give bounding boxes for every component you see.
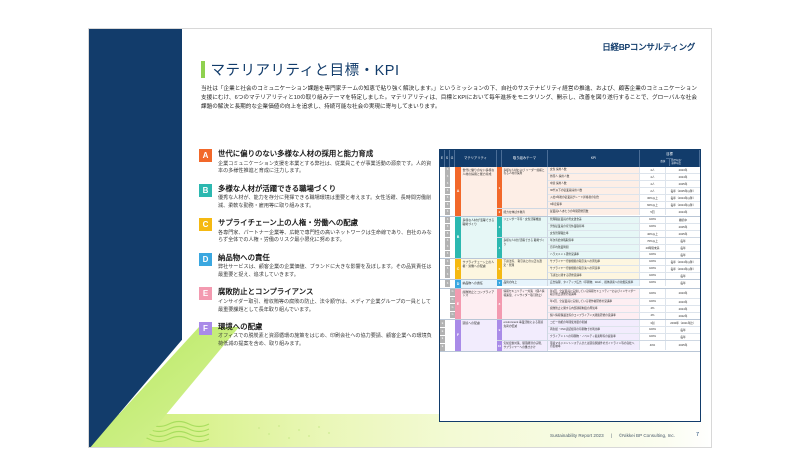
kpi-row: 個人情報保護法等のコンプライアンス関連研修の受講率4%2022年 — [548, 313, 700, 319]
esg-columns: GGGG — [440, 289, 455, 319]
kpi-theme-row: 8情報セキュリティー対策 （個人情報漏洩、インサイダー取引防止）年1回、全従業員… — [497, 289, 700, 319]
theme-name: 能力を伸ばす教育 — [502, 209, 548, 216]
materiality-body: 多様な人材が活躍できる職場づくり優秀な人材が、能力を存分に発揮できる職場環境は重… — [218, 184, 434, 211]
kpi-rows: コピー用紙の年間使用量の削減3割2030年（2021年比）再生紙・FSC認証紙等… — [548, 320, 700, 340]
kpi-row: 30代以下の従業員採用人数2人毎年（2025年以降） — [548, 188, 700, 195]
esg-mark: E — [440, 328, 444, 335]
kpi-target-year: 2024年 — [666, 174, 700, 180]
group-name: 世代に偏りのない多様な人材の採用と能力育成 — [461, 167, 497, 216]
materiality-badge-b: B — [199, 184, 212, 197]
materiality-description: 企業コミュニケーション支援を本業とする弊社は、従業員こそが事業活動の源泉です。人… — [218, 161, 434, 176]
kpi-text: 年1回、全従業員に実施している情報セキュリティーおよびインサイダー取引防止研修の… — [548, 289, 640, 298]
kpi-target-value: 100% — [640, 259, 666, 265]
group-name: 環境への配慮 — [461, 320, 497, 351]
kpi-target-value: 100% — [640, 266, 666, 272]
theme-name: 多様な人材が活躍できる 職場づくり — [502, 238, 548, 258]
kpi-row: サプライヤー行動規範の取引先への同意率100%毎年（2024年以降） — [548, 266, 700, 273]
kpi-target-year: 2024年 — [666, 306, 700, 312]
kpi-text: 個人情報保護法等のコンプライアンス関連研修の受講率 — [548, 313, 640, 319]
materiality-body: 世代に偏りのない多様な人材の採用と能力育成企業コミュニケーション支援を本業とする… — [218, 149, 434, 176]
esg-mark: S — [445, 181, 449, 187]
kpi-group-themes: 8情報セキュリティー対策 （個人情報漏洩、インサイダー取引防止）年1回、全従業員… — [497, 289, 700, 319]
materiality-description: 弊社サービスは、顧客企業の企業価値、ブランドに大きな影響を及ぼします。その品質責… — [218, 264, 434, 279]
kpi-rows: 年1回、全従業員に実施している情報セキュリティーおよびインサイダー取引防止研修の… — [548, 289, 700, 319]
kpi-theme-row: 5下請法等、 取引先との公正な選定・管理サプライヤー行動規範の取引先への周知率1… — [497, 259, 700, 279]
kpi-table: E S G マテリアリティ 取り組みテーマ KPI 目標 数値 目標年度/基準年… — [439, 149, 701, 422]
kpi-theme-row: 1多様な人材および リーダー候補となる人材の採用女性 採用人数4人2023年外国… — [497, 167, 700, 209]
materiality-item-a: A世代に偏りのない多様な人材の採用と能力育成企業コミュニケーション支援を本業とす… — [199, 149, 434, 176]
kpi-target-value: 2人 — [640, 188, 666, 194]
materiality-heading: 腐敗防止とコンプライアンス — [218, 287, 434, 296]
kpi-text: サプライヤー行動規範の取引先への同意率 — [548, 266, 640, 272]
theme-name: 気候変動対策、循環経済の実現、 サプライヤーへの働きかけ — [502, 341, 548, 351]
group-name: サプライチェーン上の人権・労働への配慮 — [461, 259, 497, 279]
header-materiality: マテリアリティ — [455, 150, 497, 167]
kpi-target-value: 30%以上 — [640, 195, 666, 201]
esg-mark: S — [445, 202, 449, 208]
kpi-text: 女性 採用人数 — [548, 167, 640, 173]
kpi-rows: 従業員1人あたりの年間研修回数5回2024年 — [548, 209, 700, 216]
materiality-heading: 世代に偏りのない多様な人材の採用と能力育成 — [218, 149, 434, 158]
esg-mark: S — [445, 209, 449, 215]
title-accent-bar — [201, 61, 205, 78]
kpi-target-value: 100% — [640, 217, 666, 223]
kpi-target-value: 100% — [640, 252, 666, 258]
kpi-row: 従業員1人あたりの年間研修回数5回2024年 — [548, 209, 700, 215]
esg-columns: SSSSSS — [440, 217, 455, 258]
kpi-target-value: 40% — [640, 341, 666, 350]
kpi-row: クライアントへの印刷物・ノベルティ提案時等の提案率100%毎年 — [548, 334, 700, 340]
materiality-heading: 環境への配慮 — [218, 322, 434, 331]
kpi-group-a: SSSSSSSA世代に偏りのない多様な人材の採用と能力育成1多様な人材および リ… — [440, 167, 700, 217]
group-name: 納品物への責任 — [461, 280, 497, 288]
footer-report-name: Sustainability Report 2023 — [550, 433, 604, 438]
kpi-target-value: 100% — [640, 327, 666, 333]
kpi-text: クライアントへの印刷物・ノベルティ提案時等の提案率 — [548, 334, 640, 340]
kpi-target-year: 毎年 — [666, 245, 700, 251]
kpi-table-body: SSSSSSSA世代に偏りのない多様な人材の採用と能力育成1多様な人材および リ… — [440, 167, 700, 421]
esg-mark: S — [445, 266, 449, 272]
kpi-theme-row: 10気候変動対策、循環経済の実現、 サプライヤーへの働きかけ環境マネジメントシス… — [497, 341, 700, 351]
esg-mark: S — [445, 259, 449, 265]
slide-footer: Sustainability Report 2023 | ©Nikkei BP … — [550, 432, 699, 438]
kpi-target-year: 2023年 — [666, 289, 700, 298]
materiality-item-e: E腐敗防止とコンプライアンスインサイダー取引、贈収賄等の腐敗の防止、法令順守は、… — [199, 287, 434, 314]
theme-name: 情報セキュリティー対策 （個人情報漏洩、インサイダー取引防止） — [502, 289, 548, 319]
kpi-rows: 広告倫理、タイアップ広告（印刷物、Web）、媒体調査への校閲実施率100%毎年 — [548, 280, 700, 287]
kpi-text: 腐敗防止に関する内部通報制度の周知率 — [548, 306, 640, 312]
kpi-row: 月平均残業時間20時間未満毎年 — [548, 245, 700, 252]
kpi-group-themes: 3ジェンダー平等・女性活躍推進管理職従業員の男女賃金差100%継続中男性従業員の… — [497, 217, 700, 258]
esg-mark: G — [450, 304, 454, 311]
kpi-target-value: 100% — [640, 280, 666, 286]
kpi-group-themes: 9environment 事業活動による環境負荷の低減コピー用紙の年間使用量の削… — [497, 320, 700, 351]
kpi-target-year: 継続中 — [666, 217, 700, 223]
kpi-text: サプライヤー行動規範の取引先への周知率 — [548, 259, 640, 265]
materiality-description: インサイダー取引、贈収賄等の腐敗の防止、法令順守は、メディア企業グループの一員と… — [218, 299, 434, 314]
materiality-badge-f: F — [199, 322, 212, 335]
materiality-description: 各専門家、パートナー企業等、広範で専門性の高いネットワークは生命線であり、自社の… — [218, 230, 434, 245]
kpi-target-value: 100% — [640, 334, 666, 340]
kpi-text: 女性管理職比率 — [548, 231, 640, 237]
header-goal-label: 目標 — [666, 151, 673, 159]
header-goal-value: 数値 — [657, 159, 670, 166]
materiality-badge-a: A — [199, 149, 212, 162]
kpi-text: 従業員1人あたりの年間研修回数 — [548, 209, 640, 215]
materiality-body: 納品物への責任弊社サービスは、顧客企業の企業価値、ブランドに大きな影響を及ぼしま… — [218, 253, 434, 280]
nikkei-bp-consulting-logo: 日経BPコンサルティング — [602, 41, 695, 53]
kpi-text: 3年定着率 — [548, 202, 640, 208]
esg-mark: S — [445, 195, 449, 201]
kpi-group-themes: 5下請法等、 取引先との公正な選定・管理サプライヤー行動規範の取引先への周知率1… — [497, 259, 700, 279]
kpi-target-year: 毎年 — [666, 252, 700, 258]
kpi-rows: 年次有給休暇取得率70%以上毎年月平均残業時間20時間未満毎年ハラスメント研修受… — [548, 238, 700, 258]
kpi-group-e: GGGGE腐敗防止とコンプライアンス8情報セキュリティー対策 （個人情報漏洩、イ… — [440, 289, 700, 320]
kpi-row: 入社3年後の従業員グレード昇格者の割合30%以上毎年（2024年以降） — [548, 195, 700, 202]
kpi-theme-row: 9environment 事業活動による環境負荷の低減コピー用紙の年間使用量の削… — [497, 320, 700, 341]
page-number: 7 — [696, 432, 699, 438]
kpi-target-year: 2025年 — [666, 341, 700, 350]
theme-name: ジェンダー平等・女性活躍推進 — [502, 217, 548, 237]
footer-separator: | — [611, 433, 612, 438]
kpi-target-year: 毎年 — [666, 327, 700, 333]
kpi-target-year: 2024年 — [666, 209, 700, 215]
kpi-row: 年次有給休暇取得率70%以上毎年 — [548, 238, 700, 245]
kpi-row: 年1回、全従業員に実施している情報セキュリティーおよびインサイダー取引防止研修の… — [548, 289, 700, 299]
kpi-text: 男性従業員の育児休業取得率 — [548, 224, 640, 230]
materiality-item-c: Cサプライチェーン上の人権・労働への配慮各専門家、パートナー企業等、広範で専門性… — [199, 218, 434, 245]
materiality-body: 腐敗防止とコンプライアンスインサイダー取引、贈収賄等の腐敗の防止、法令順守は、メ… — [218, 287, 434, 314]
header-theme: 取り組みテーマ — [502, 150, 548, 167]
materiality-item-b: B多様な人材が活躍できる職場づくり優秀な人材が、能力を存分に発揮できる職場環境は… — [199, 184, 434, 211]
kpi-text: 環境マネジメントシステムまたは環境関連件のガイドライン等の自社への反映率 — [548, 341, 640, 350]
kpi-target-year: 2022年 — [666, 313, 700, 319]
theme-name: 品質の向上 — [502, 280, 548, 287]
kpi-theme-row: 4多様な人材が活躍できる 職場づくり年次有給休暇取得率70%以上毎年月平均残業時… — [497, 238, 700, 258]
materiality-heading: サプライチェーン上の人権・労働への配慮 — [218, 218, 434, 227]
kpi-target-year: 毎年（2024年以降） — [666, 202, 700, 208]
kpi-target-year: 毎年（2024年以降） — [666, 266, 700, 272]
page-title-wrap: マテリアリティと目標・KPI — [201, 59, 400, 80]
esg-mark: G — [450, 312, 454, 319]
materiality-badge-e: E — [199, 287, 212, 300]
kpi-target-year: 2030年（2021年比） — [666, 320, 700, 326]
materiality-body: サプライチェーン上の人権・労働への配慮各専門家、パートナー企業等、広範で専門性の… — [218, 218, 434, 245]
group-name: 腐敗防止とコンプライアンス — [461, 289, 497, 319]
kpi-text: コピー用紙の年間使用量の削減 — [548, 320, 640, 326]
kpi-rows: 女性 採用人数4人2023年外国人 採用人数4人2024年中途 採用人数4人20… — [548, 167, 700, 208]
esg-columns: S — [440, 280, 455, 288]
kpi-row: 広告倫理、タイアップ広告（印刷物、Web）、媒体調査への校閲実施率100%毎年 — [548, 280, 700, 286]
kpi-text: 広告倫理、タイアップ広告（印刷物、Web）、媒体調査への校閲実施率 — [548, 280, 640, 286]
kpi-rows: 環境マネジメントシステムまたは環境関連件のガイドライン等の自社への反映率40%2… — [548, 341, 700, 351]
kpi-target-value: 100% — [640, 224, 666, 230]
kpi-text: 月平均残業時間 — [548, 245, 640, 251]
materiality-item-f: F環境への配慮オフィスでの脱炭素と資源循環の施策をはじめ、印刷会社への協力要請、… — [199, 322, 434, 349]
kpi-text: 外国人 採用人数 — [548, 174, 640, 180]
kpi-text: ハラスメント研修受講率 — [548, 252, 640, 258]
esg-mark: S — [445, 251, 449, 257]
kpi-row: 腐敗防止に関する内部通報制度の周知率4%2024年 — [548, 306, 700, 313]
kpi-target-year: 毎年（2024年以降） — [666, 259, 700, 265]
header-kpi: KPI — [548, 150, 640, 167]
kpi-target-value: 4人 — [640, 174, 666, 180]
materiality-heading: 多様な人材が活躍できる職場づくり — [218, 184, 434, 193]
materiality-description: オフィスでの脱炭素と資源循環の施策をはじめ、印刷会社への協力要請、顧客企業への環… — [218, 333, 434, 348]
kpi-row: 外国人 採用人数4人2024年 — [548, 174, 700, 181]
kpi-text: 再生紙・FSC認証紙等の印刷物での利用率 — [548, 327, 640, 333]
kpi-row: 管理職従業員の男女賃金差100%継続中 — [548, 217, 700, 224]
esg-columns: SSSSSSS — [440, 167, 455, 216]
kpi-row: ハラスメント研修受講率100%毎年 — [548, 252, 700, 258]
kpi-target-year: 毎年 — [666, 280, 700, 286]
materiality-badge-d: D — [199, 253, 212, 266]
kpi-row: サプライヤー行動規範の取引先への周知率100%毎年（2024年以降） — [548, 259, 700, 266]
esg-mark: G — [450, 289, 454, 296]
kpi-target-value: 70%以上 — [640, 238, 666, 244]
kpi-target-value: 3割 — [640, 320, 666, 326]
kpi-target-value: 100% — [640, 273, 666, 279]
esg-mark: S — [445, 280, 449, 287]
kpi-row: 再生紙・FSC認証紙等の印刷物での利用率100%毎年 — [548, 327, 700, 334]
kpi-row: 女性 採用人数4人2023年 — [548, 167, 700, 174]
esg-mark: S — [445, 231, 449, 237]
kpi-text: 管理職従業員の男女賃金差 — [548, 217, 640, 223]
esg-mark: S — [445, 244, 449, 250]
esg-columns: SSS — [440, 259, 455, 279]
kpi-row: コピー用紙の年間使用量の削減3割2030年（2021年比） — [548, 320, 700, 327]
kpi-theme-row: 3ジェンダー平等・女性活躍推進管理職従業員の男女賃金差100%継続中男性従業員の… — [497, 217, 700, 238]
kpi-target-value: 100% — [640, 289, 666, 298]
kpi-rows: サプライヤー行動規範の取引先への周知率100%毎年（2024年以降）サプライヤー… — [548, 259, 700, 279]
header-goal: 目標 数値 目標年度/基準年度 — [640, 150, 700, 167]
kpi-row: 年1回、全従業員に実施している著作権研修の受講率100%2023年 — [548, 299, 700, 306]
kpi-group-b: SSSSSSB多様な人材が活躍できる職場づくり3ジェンダー平等・女性活躍推進管理… — [440, 217, 700, 259]
esg-mark: S — [445, 174, 449, 180]
kpi-target-year: 毎年（2025年以降） — [666, 188, 700, 194]
kpi-table-header-row: E S G マテリアリティ 取り組みテーマ KPI 目標 数値 目標年度/基準年… — [440, 150, 700, 167]
esg-mark: S — [445, 188, 449, 194]
kpi-target-year: 毎年（2024年以降） — [666, 195, 700, 201]
kpi-target-value: 4% — [640, 306, 666, 312]
esg-mark: E — [440, 336, 444, 343]
kpi-target-year: 2023年 — [666, 167, 700, 173]
theme-name: environment 事業活動による環境負荷の低減 — [502, 320, 548, 340]
kpi-row: 下請法に関する研修受講率100%毎年 — [548, 273, 700, 279]
kpi-group-f: EEEEF環境への配慮9environment 事業活動による環境負荷の低減コピ… — [440, 320, 700, 352]
footer-copyright: ©Nikkei BP Consulting, Inc. — [619, 433, 675, 438]
esg-mark: S — [445, 238, 449, 244]
kpi-target-year: 2025年 — [666, 181, 700, 187]
materiality-badge-c: C — [199, 218, 212, 231]
page-title: マテリアリティと目標・KPI — [211, 59, 400, 80]
materiality-description: 優秀な人材が、能力を存分に発揮できる職場環境は重要と考えます。女性活躍、長時間労… — [218, 195, 434, 210]
kpi-group-themes: 7品質の向上広告倫理、タイアップ広告（印刷物、Web）、媒体調査への校閲実施率1… — [497, 280, 700, 288]
kpi-rows: 管理職従業員の男女賃金差100%継続中男性従業員の育児休業取得率100%2025… — [548, 217, 700, 237]
header-goal-year: 目標年度/基準年度 — [670, 159, 682, 166]
esg-mark: S — [445, 167, 449, 173]
kpi-row: 男性従業員の育児休業取得率100%2025年 — [548, 224, 700, 231]
kpi-row: 中途 採用人数4人2025年 — [548, 181, 700, 188]
kpi-text: 年次有給休暇取得率 — [548, 238, 640, 244]
kpi-target-year: 2023年 — [666, 299, 700, 305]
kpi-row: 女性管理職比率40%以上2025年 — [548, 231, 700, 237]
kpi-target-value: 4人 — [640, 167, 666, 173]
kpi-text: 年1回、全従業員に実施している著作権研修の受講率 — [548, 299, 640, 305]
esg-mark: S — [445, 272, 449, 278]
kpi-target-year: 毎年 — [666, 273, 700, 279]
esg-mark: E — [440, 320, 444, 327]
esg-mark: E — [440, 344, 444, 351]
kpi-group-c: SSSCサプライチェーン上の人権・労働への配慮5下請法等、 取引先との公正な選定… — [440, 259, 700, 280]
kpi-target-value: 4% — [640, 313, 666, 319]
theme-name: 多様な人材および リーダー候補となる人材の採用 — [502, 167, 548, 208]
kpi-text: 入社3年後の従業員グレード昇格者の割合 — [548, 195, 640, 201]
kpi-group-themes: 1多様な人材および リーダー候補となる人材の採用女性 採用人数4人2023年外国… — [497, 167, 700, 216]
theme-name: 下請法等、 取引先との公正な選定・管理 — [502, 259, 548, 279]
kpi-text: 下請法に関する研修受講率 — [548, 273, 640, 279]
slide-canvas: chapter 02 サステナビリティ 経営 日経BPコンサルティング マテリア… — [88, 28, 712, 448]
kpi-target-year: 毎年 — [666, 334, 700, 340]
esg-columns: EEEE — [440, 320, 455, 351]
kpi-target-value: 4人 — [640, 181, 666, 187]
kpi-target-value: 40%以上 — [640, 231, 666, 237]
kpi-target-year: 2025年 — [666, 224, 700, 230]
kpi-theme-row: 7品質の向上広告倫理、タイアップ広告（印刷物、Web）、媒体調査への校閲実施率1… — [497, 280, 700, 287]
kpi-target-year: 2025年 — [666, 231, 700, 237]
kpi-target-value: 100% — [640, 299, 666, 305]
kpi-target-value: 60%以上 — [640, 202, 666, 208]
esg-mark: S — [445, 224, 449, 230]
materiality-body: 環境への配慮オフィスでの脱炭素と資源循環の施策をはじめ、印刷会社への協力要請、顧… — [218, 322, 434, 349]
kpi-target-value: 5回 — [640, 209, 666, 215]
kpi-target-year: 毎年 — [666, 238, 700, 244]
kpi-group-d: SD納品物への責任7品質の向上広告倫理、タイアップ広告（印刷物、Web）、媒体調… — [440, 280, 700, 289]
esg-mark: S — [445, 217, 449, 223]
kpi-row: 環境マネジメントシステムまたは環境関連件のガイドライン等の自社への反映率40%2… — [548, 341, 700, 350]
materiality-list: A世代に偏りのない多様な人材の採用と能力育成企業コミュニケーション支援を本業とす… — [199, 149, 434, 356]
group-name: 多様な人材が活躍できる職場づくり — [461, 217, 497, 258]
intro-paragraph: 当社は「企業と社会のコミュニケーション課題を専門家チームの知恵で粘り強く解決しま… — [201, 85, 697, 112]
kpi-target-value: 20時間未満 — [640, 245, 666, 251]
kpi-text: 中途 採用人数 — [548, 181, 640, 187]
kpi-theme-row: 2能力を伸ばす教育従業員1人あたりの年間研修回数5回2024年 — [497, 209, 700, 216]
kpi-row: 3年定着率60%以上毎年（2024年以降） — [548, 202, 700, 208]
materiality-heading: 納品物への責任 — [218, 253, 434, 262]
materiality-item-d: D納品物への責任弊社サービスは、顧客企業の企業価値、ブランドに大きな影響を及ぼし… — [199, 253, 434, 280]
esg-mark: G — [450, 297, 454, 304]
kpi-text: 30代以下の従業員採用人数 — [548, 188, 640, 194]
